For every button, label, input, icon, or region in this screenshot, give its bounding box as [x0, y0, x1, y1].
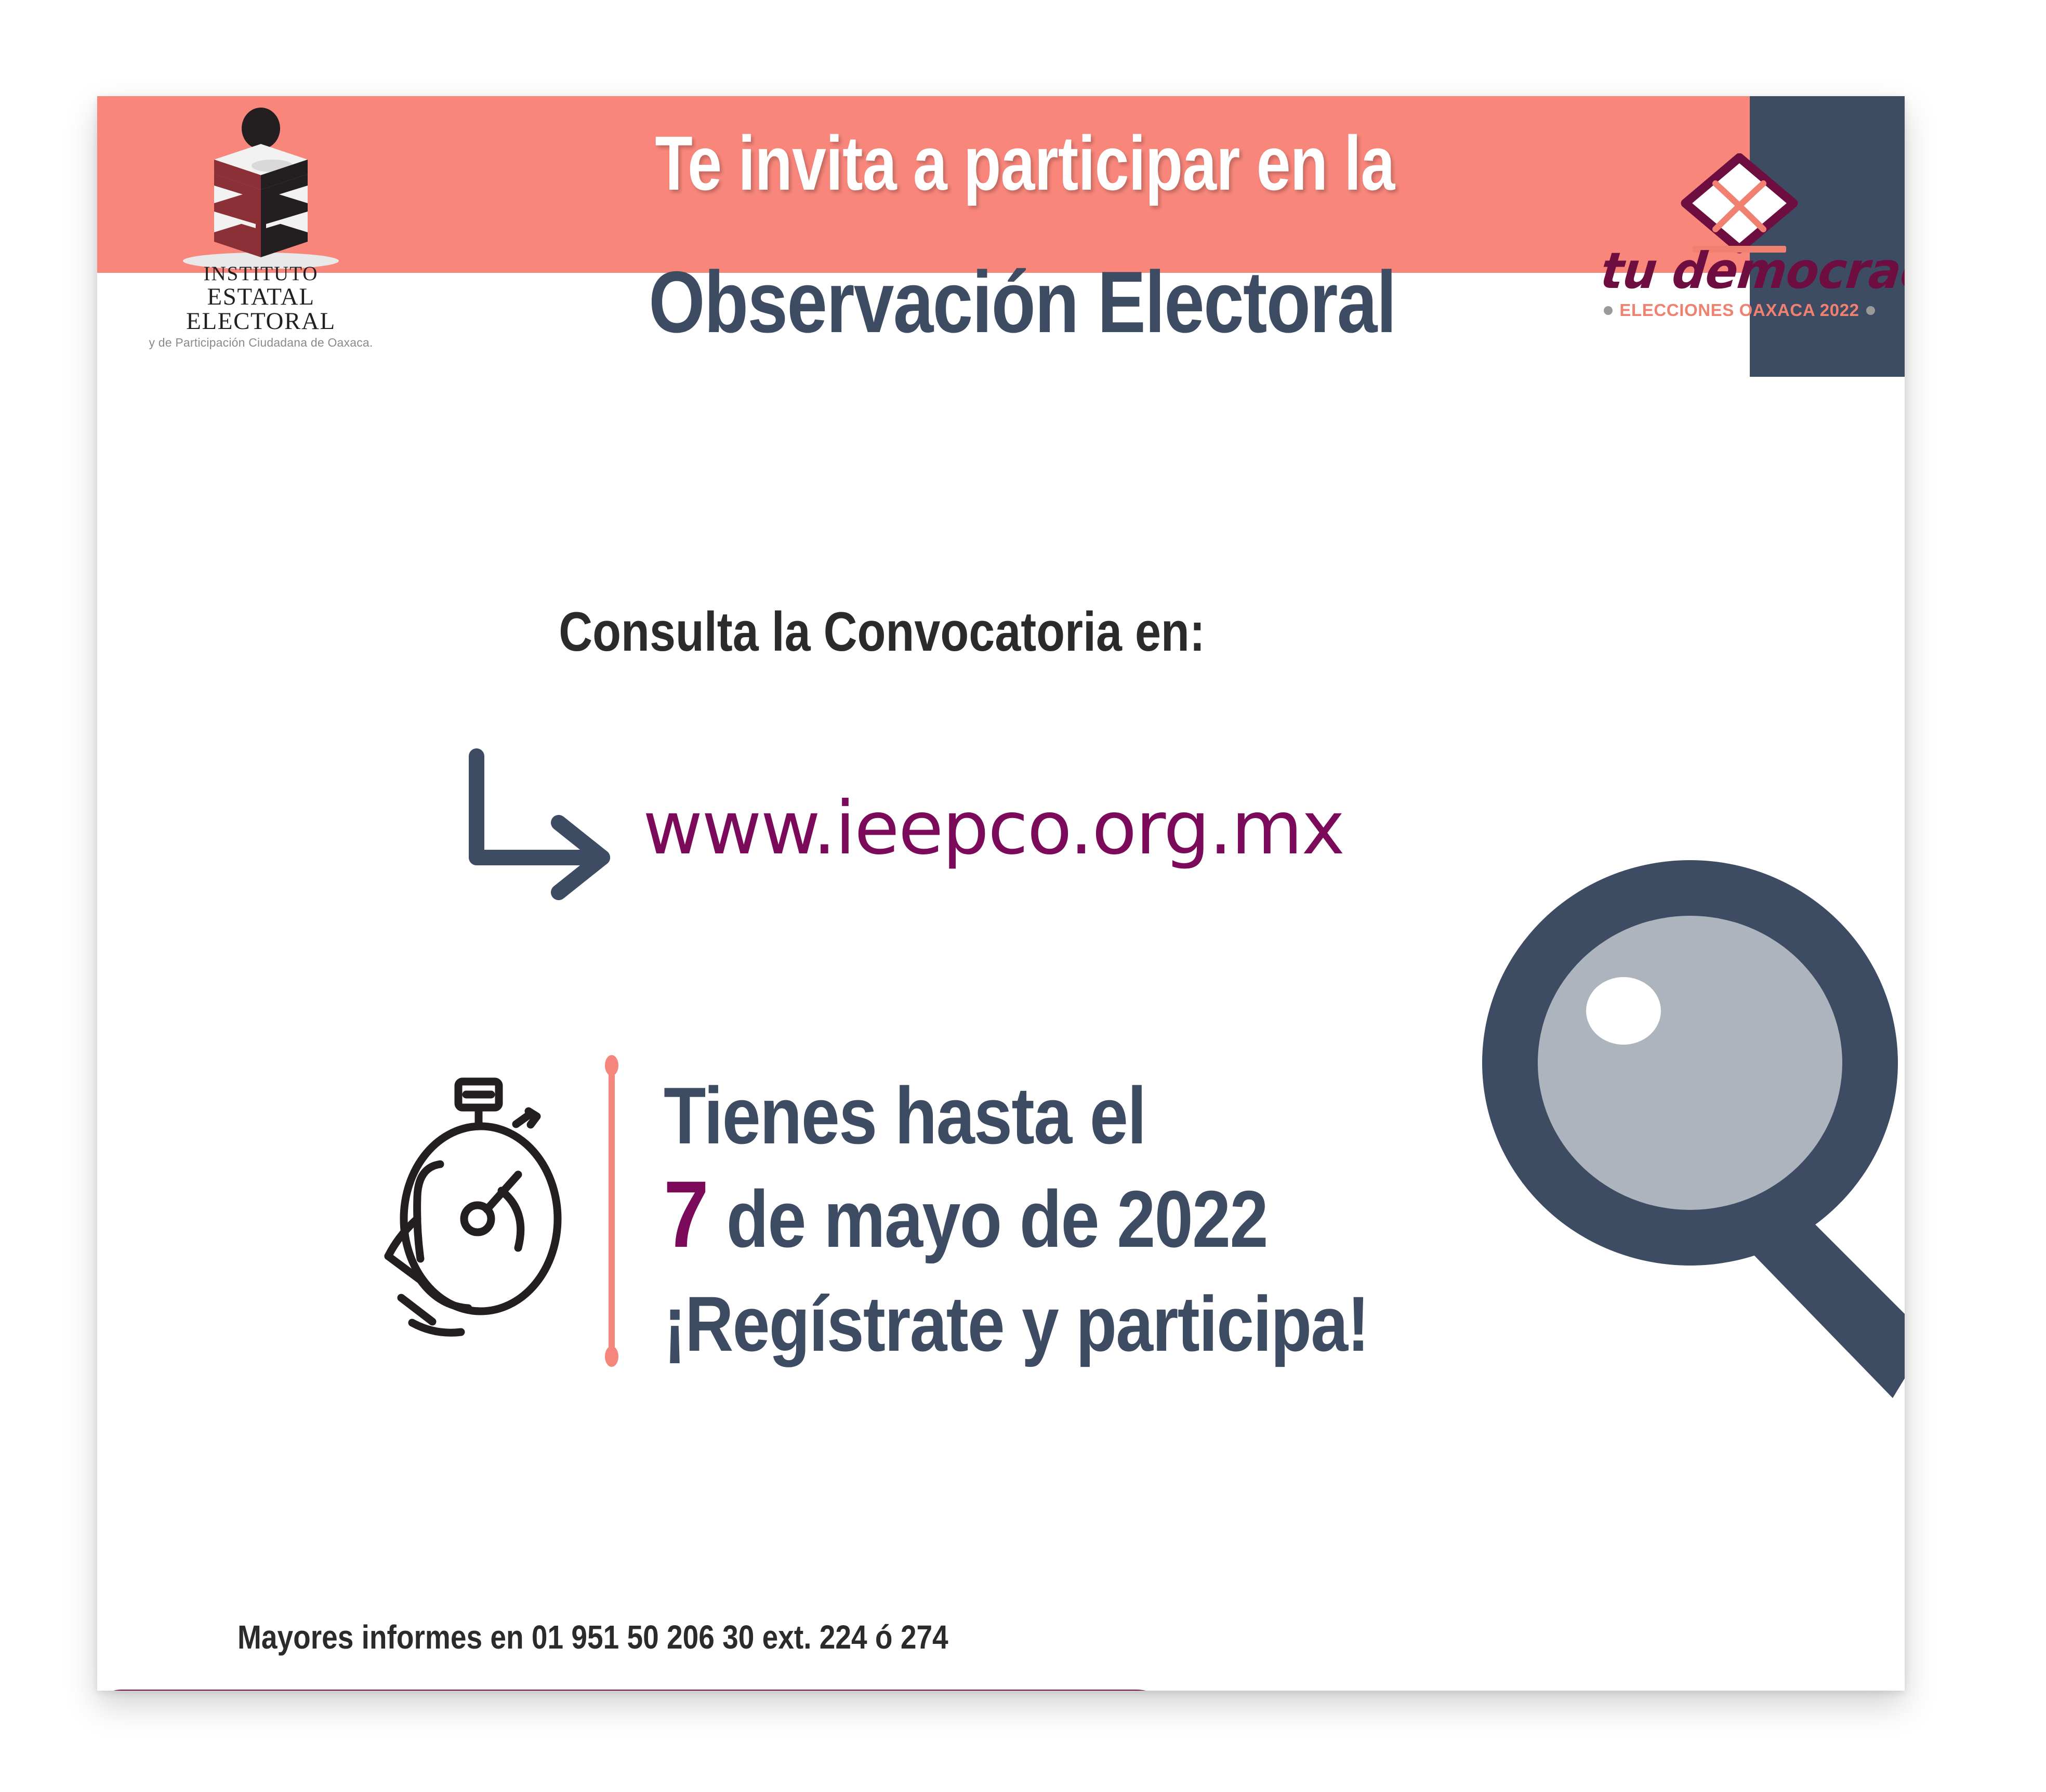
tu-democracia-lockup: tu democracia ELECCIONES OAXACA 2022: [1594, 153, 1885, 335]
salmon-divider: [605, 1055, 618, 1367]
invite-headline: Te invita a participar en la: [582, 120, 1468, 208]
ieepco-logo: INSTITUTO ESTATAL ELECTORAL y de Partici…: [136, 108, 386, 336]
deadline-text-block: Tienes hasta el 7 de mayo de 2022 ¡Regís…: [664, 1073, 1599, 1371]
elbow-arrow-right-icon: [461, 746, 648, 933]
deadline-month-year: de mayo de 2022: [708, 1174, 1268, 1264]
ieepco-wordmark-line2: ESTATAL ELECTORAL: [136, 285, 386, 334]
ieepco-wordmark-line1: INSTITUTO: [136, 263, 386, 284]
magnifying-glass-icon: [1482, 855, 1905, 1494]
ieepco-wordmark-line3: y de Participación Ciudadana de Oaxaca.: [136, 337, 386, 349]
process-banner: Proceso Electoral Local Ordinario 2021-2…: [97, 1690, 1199, 1691]
website-url[interactable]: www.ieepco.org.mx: [643, 786, 1344, 871]
divider-line: [609, 1069, 615, 1353]
deadline-cta: ¡Regístrate y participa!: [664, 1277, 1468, 1371]
tu-democracia-subtitle-row: ELECCIONES OAXACA 2022: [1594, 300, 1885, 320]
ieepco-wordmark: INSTITUTO ESTATAL ELECTORAL y de Partici…: [136, 263, 386, 349]
hand-holding-stopwatch-icon: [362, 1063, 591, 1354]
bullet-dot-left: [1604, 306, 1613, 315]
page-title: Observación Electoral: [557, 252, 1488, 352]
bullet-dot-right: [1866, 306, 1875, 315]
deadline-day-number: 7: [664, 1161, 708, 1267]
ballot-box-icon: [136, 108, 386, 269]
deadline-line2: 7 de mayo de 2022: [664, 1162, 1468, 1268]
tu-democracia-subtitle: ELECCIONES OAXACA 2022: [1619, 300, 1859, 320]
tu-democracia-script: tu democracia: [1598, 242, 1881, 300]
poster-card: INSTITUTO ESTATAL ELECTORAL y de Partici…: [97, 96, 1905, 1691]
divider-cap-bottom: [605, 1346, 618, 1367]
deadline-line1: Tienes hasta el: [664, 1073, 1468, 1158]
process-banner-label: Proceso Electoral Local Ordinario 2021-2…: [138, 1690, 1065, 1691]
contact-info: Mayores informes en 01 951 50 206 30 ext…: [237, 1618, 948, 1656]
consulta-convocatoria-label: Consulta la Convocatoria en:: [402, 599, 1362, 664]
